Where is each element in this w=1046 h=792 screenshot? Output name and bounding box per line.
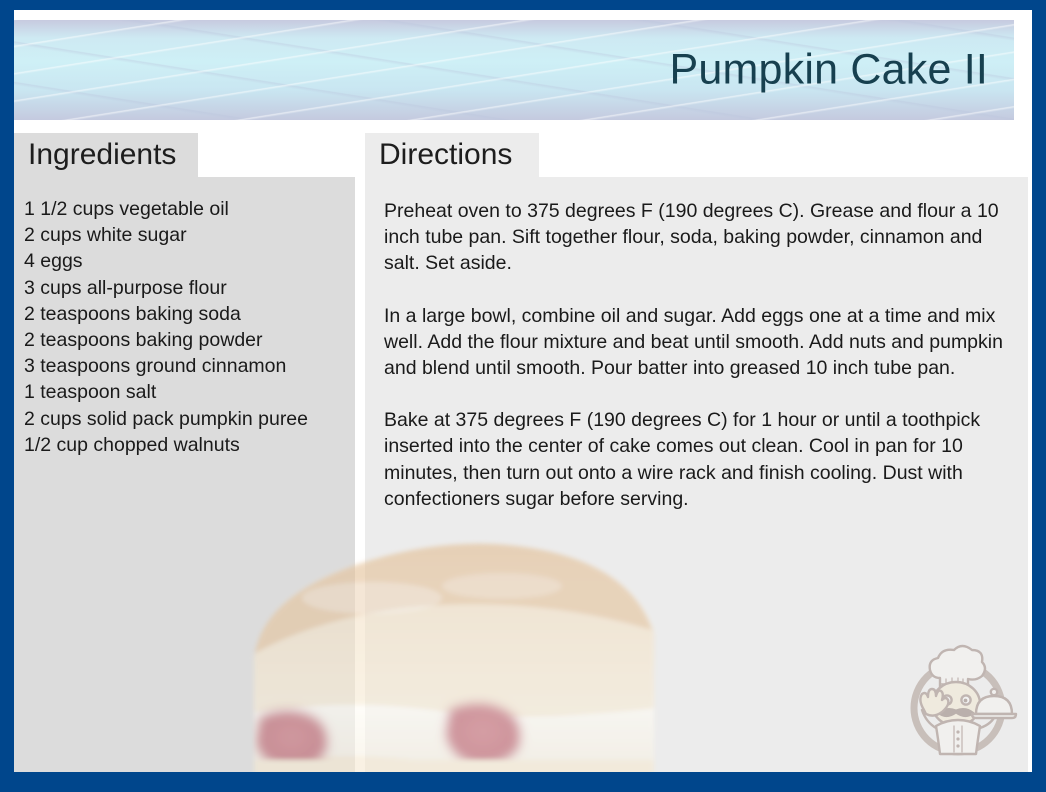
tab-directions[interactable]: Directions [365, 133, 539, 177]
directions-panel: Directions [365, 133, 1028, 772]
tab-ingredients[interactable]: Ingredients [14, 133, 198, 177]
page-title: Pumpkin Cake II [670, 46, 988, 95]
header-banner: Pumpkin Cake II [14, 20, 1014, 120]
ingredients-panel-body [14, 177, 355, 772]
tab-directions-label: Directions [379, 138, 512, 172]
content-panels: Ingredients Directions [14, 133, 1032, 772]
ingredients-panel: Ingredients [14, 133, 355, 772]
recipe-card-inner: Pumpkin Cake II Ingredients Directions [14, 10, 1032, 772]
tab-ingredients-label: Ingredients [28, 138, 176, 172]
directions-panel-body [365, 177, 1028, 772]
recipe-card: Pumpkin Cake II Ingredients Directions [0, 0, 1046, 792]
